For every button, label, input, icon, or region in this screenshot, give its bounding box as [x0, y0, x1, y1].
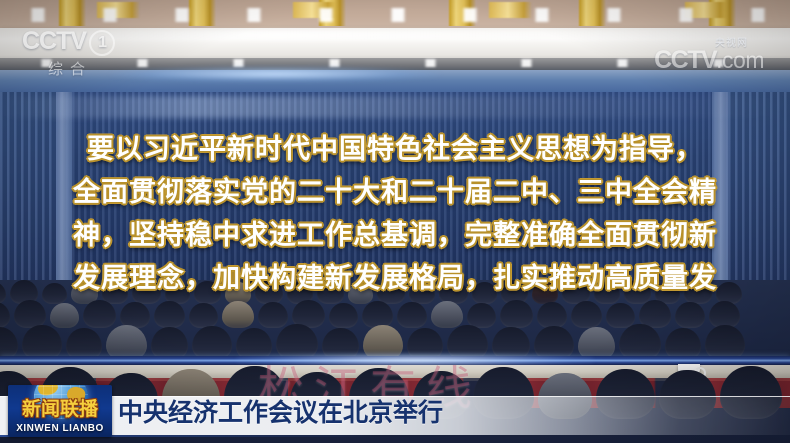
cctv-com-watermark: 央视网 CCTV.com	[654, 34, 764, 71]
program-title-cn: 新闻联播	[8, 394, 112, 421]
backdrop-light-streak	[0, 96, 790, 118]
news-headline: 中央经济工作会议在北京举行	[118, 393, 443, 429]
channel-number-badge: 1	[89, 30, 115, 56]
lower-third-banner: 中央经济工作会议在北京举行 新闻联播 XINWEN LIANBO	[0, 395, 790, 443]
attendee-head	[192, 326, 232, 360]
attendee-head	[106, 325, 147, 360]
attendee-head	[705, 325, 745, 360]
channel-sub-label: 综合	[48, 58, 138, 79]
wall-light-glow	[110, 66, 440, 82]
cctv-brand-text: CCTV	[654, 46, 716, 74]
subtitle-block: 要以习近平新时代中国特色社会主义思想为指导， 全面贯彻落实党的二十大和二十届二中…	[0, 128, 790, 300]
channel-brand-label: CCTV	[22, 27, 86, 55]
subtitle-line-2: 全面贯彻落实党的二十大和二十届二中、三中全会精	[0, 171, 790, 214]
subtitle-line-1: 要以习近平新时代中国特色社会主义思想为指导，	[0, 128, 790, 171]
cctv-domain-text: .com	[716, 47, 764, 73]
channel-logo-text: CCTV1	[22, 28, 138, 56]
program-logo-xinwen-lianbo: 新闻联播 XINWEN LIANBO	[8, 385, 112, 437]
channel-logo-cctv1: CCTV1 综合	[22, 28, 138, 80]
attendee-head	[22, 325, 62, 360]
subtitle-line-4: 发展理念，加快构建新发展格局，扎实推动高质量发	[0, 257, 790, 300]
attendee-head	[619, 324, 661, 360]
program-title-en: XINWEN LIANBO	[8, 423, 112, 434]
ceiling-band	[0, 0, 790, 30]
broadcast-screen: CCTV1 综合 央视网 CCTV.com 要以习近平新时代中国特色社会主义思想…	[0, 0, 790, 443]
subtitle-line-3: 神，坚持稳中求进工作总基调，完整准确全面贯彻新	[0, 214, 790, 257]
ceiling-lights	[0, 8, 790, 22]
cctv-com-label: CCTV.com	[654, 49, 764, 71]
